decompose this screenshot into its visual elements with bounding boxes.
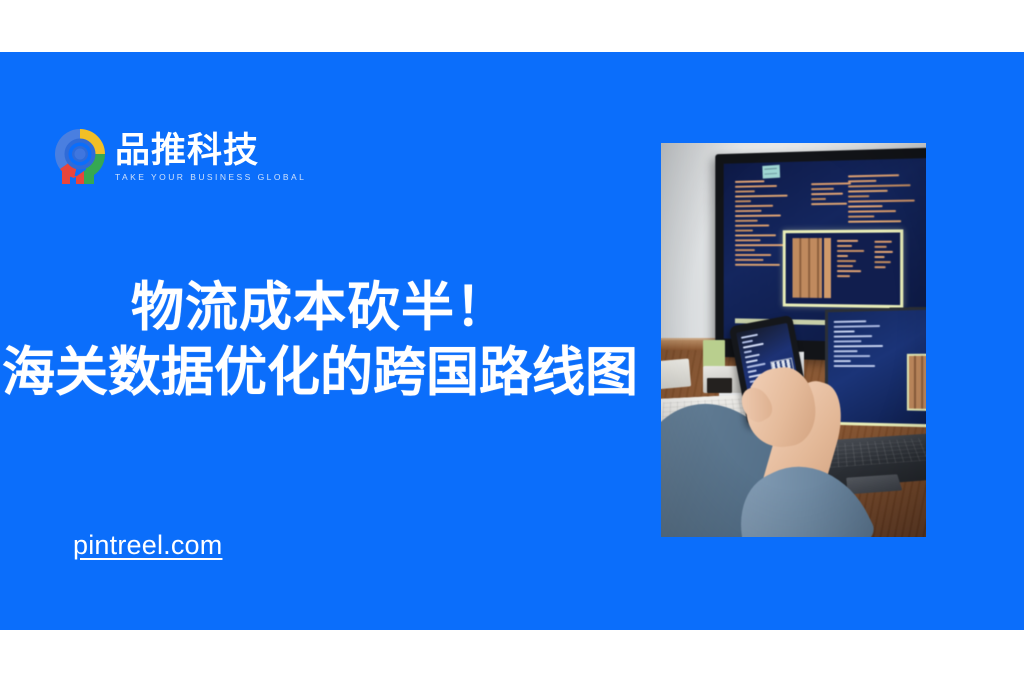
photo-notepad (661, 358, 691, 389)
photo-terminal-code-left (838, 239, 868, 280)
photo-terminal-code-right (875, 241, 896, 272)
brand-name: 品推科技 (115, 132, 306, 170)
hero-photo (661, 143, 926, 537)
hero-photo-scene (661, 143, 926, 537)
photo-highlighted-terminal-window (783, 229, 904, 308)
photo-terminal-bars (793, 238, 822, 298)
headline-line-1: 物流成本砍半！ (0, 276, 640, 340)
page-title: 物流成本砍半！ 海关数据优化的跨国路线图 (0, 276, 640, 406)
brand-logo-text: 品推科技 TAKE YOUR BUSINESS GLOBAL (115, 130, 306, 183)
photo-sticky-note (763, 164, 781, 177)
brand-logo[interactable]: 品推科技 TAKE YOUR BUSINESS GLOBAL (52, 126, 306, 186)
photo-terminal-bar-secondary (824, 238, 831, 298)
photo-laptop-code (834, 320, 888, 370)
slide-canvas: 品推科技 TAKE YOUR BUSINESS GLOBAL 物流成本砍半！ 海… (0, 0, 1024, 683)
pintreel-circular-pa-logo-icon (52, 126, 108, 186)
site-url-link[interactable]: pintreel.com (73, 528, 222, 562)
photo-laptop-inset-window (907, 354, 926, 411)
photo-code-block-right (849, 173, 921, 225)
headline-line-2: 海关数据优化的跨国路线图 (0, 340, 640, 406)
brand-tagline: TAKE YOUR BUSINESS GLOBAL (115, 171, 306, 183)
